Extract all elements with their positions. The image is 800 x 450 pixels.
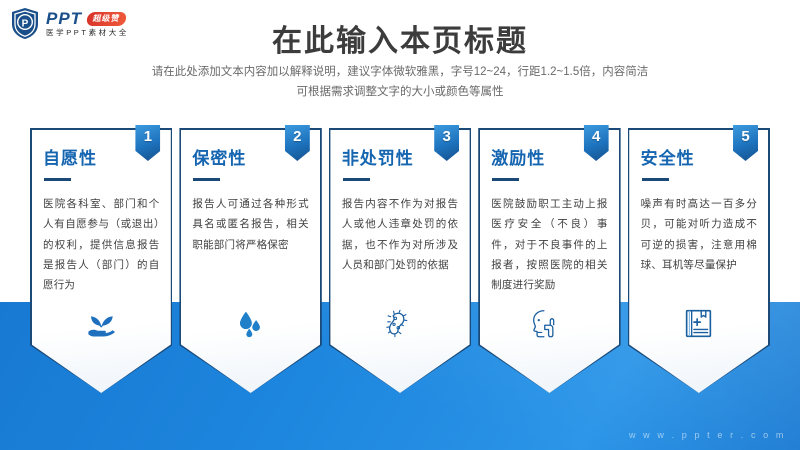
- card-badge-1: 1: [135, 125, 160, 161]
- card-badge-2: 2: [285, 125, 310, 161]
- slide-canvas: P PPT 超级赞 医学PPT素材大全 在此输入本页标题 请在此处添加文本内容加…: [0, 0, 800, 450]
- subtitle-line-1: 请在此处添加文本内容加以解释说明，建议字体微软雅黑，字号12~24，行距1.2~…: [0, 62, 800, 82]
- card-badge-3: 3: [434, 125, 459, 161]
- card-body: 报告内容不作为对报告人或他人违章处罚的依据，也不作为对所涉及人员和部门处罚的依据: [342, 194, 458, 275]
- page-subtitle: 请在此处添加文本内容加以解释说明，建议字体微软雅黑，字号12~24，行距1.2~…: [0, 62, 800, 102]
- card-badge-4: 4: [584, 125, 609, 161]
- card-1[interactable]: 1 自愿性 医院各科室、部门和个人有自愿参与（或退出）的权利，提供信息报告是报告…: [30, 128, 172, 393]
- head-inhaler-icon: [478, 305, 620, 341]
- card-divider: [44, 178, 71, 182]
- badge-number: 1: [135, 125, 160, 161]
- card-badge-5: 5: [733, 125, 758, 161]
- card-body: 医院各科室、部门和个人有自愿参与（或退出）的权利，提供信息报告是报告人（部门）的…: [43, 194, 159, 295]
- page-title: 在此输入本页标题: [0, 16, 800, 60]
- badge-number: 5: [733, 125, 758, 161]
- card-divider: [343, 178, 370, 182]
- medical-book-icon: [628, 305, 770, 341]
- card-body: 噪声有时高达一百多分贝，可能对听力造成不可逆的损害，注意用棉球、耳机等尽量保护: [641, 194, 757, 275]
- badge-number: 3: [434, 125, 459, 161]
- card-body: 医院鼓励职工主动上报医疗安全（不良）事件，对于不良事件的上报者，按照医院的相关制…: [491, 194, 607, 295]
- footer-watermark: w w w . p p t e r . c o m: [629, 430, 786, 440]
- bacteria-icon: [329, 305, 471, 341]
- cards-row: 1 自愿性 医院各科室、部门和个人有自愿参与（或退出）的权利，提供信息报告是报告…: [30, 128, 770, 393]
- badge-number: 2: [285, 125, 310, 161]
- water-drops-icon: [179, 305, 321, 341]
- card-4[interactable]: 4 激励性 医院鼓励职工主动上报医疗安全（不良）事件，对于不良事件的上报者，按照…: [478, 128, 620, 393]
- card-divider: [642, 178, 669, 182]
- card-body: 报告人可通过各种形式具名或匿名报告，相关职能部门将严格保密: [192, 194, 308, 254]
- card-2[interactable]: 2 保密性 报告人可通过各种形式具名或匿名报告，相关职能部门将严格保密: [179, 128, 321, 393]
- hand-holding-plant-icon: [30, 305, 172, 341]
- card-3[interactable]: 3 非处罚性 报告内容不作为对报告人或他人违章处罚的依据，也不作为对所涉及人员和…: [329, 128, 471, 393]
- card-divider: [193, 178, 220, 182]
- badge-number: 4: [584, 125, 609, 161]
- card-divider: [492, 178, 519, 182]
- card-5[interactable]: 5 安全性 噪声有时高达一百多分贝，可能对听力造成不可逆的损害，注意用棉球、耳机…: [628, 128, 770, 393]
- subtitle-line-2: 可根据需求调整文字的大小或颜色等属性: [0, 82, 800, 102]
